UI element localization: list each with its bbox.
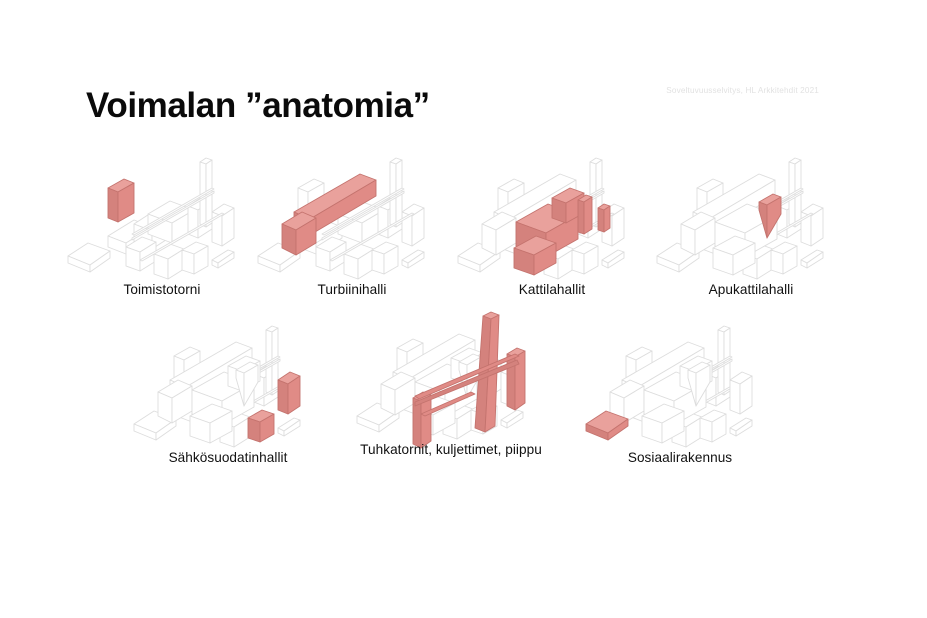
diagram-caption: Sosiaalirakennus [530, 450, 830, 465]
isometric-diagram-social-building [580, 318, 780, 458]
credit-line: Soveltuvuusselvitys, HL Arkkitehdit 2021 [666, 86, 819, 95]
isometric-diagram-auxiliary-boiler-hall [651, 150, 851, 290]
diagram-panel-apukattilahalli[interactable]: Apukattilahalli [651, 150, 851, 325]
diagram-panel-sahkosuodatinhallit[interactable]: Sähkösuodatinhallit [128, 318, 328, 493]
diagram-panel-kattilahallit[interactable]: Kattilahallit [452, 150, 652, 325]
page-title: Voimalan ”anatomia” [86, 88, 430, 123]
diagram-caption: Kattilahallit [452, 282, 652, 297]
isometric-diagram-ash-towers-chimney [351, 310, 551, 450]
slide-canvas: Voimalan ”anatomia” Soveltuvuusselvitys,… [0, 0, 927, 618]
diagram-panel-sosiaalirakennus[interactable]: Sosiaalirakennus [580, 318, 780, 493]
highlight-office-tower [108, 179, 134, 222]
isometric-diagram-turbine-hall [252, 150, 452, 290]
isometric-diagram-boiler-halls [452, 150, 652, 290]
diagram-panel-toimistotorni[interactable]: Toimistotorni [62, 150, 262, 325]
diagram-panel-tuhkatornit[interactable]: Tuhkatornit, kuljettimet, piippu [351, 310, 551, 485]
diagram-caption: Toimistotorni [62, 282, 262, 297]
diagram-caption: Turbiinihalli [252, 282, 452, 297]
diagram-panel-turbiinihalli[interactable]: Turbiinihalli [252, 150, 452, 325]
isometric-diagram-electro-filter-halls [128, 318, 328, 458]
diagram-caption: Apukattilahalli [651, 282, 851, 297]
isometric-diagram-office-tower [62, 150, 262, 290]
